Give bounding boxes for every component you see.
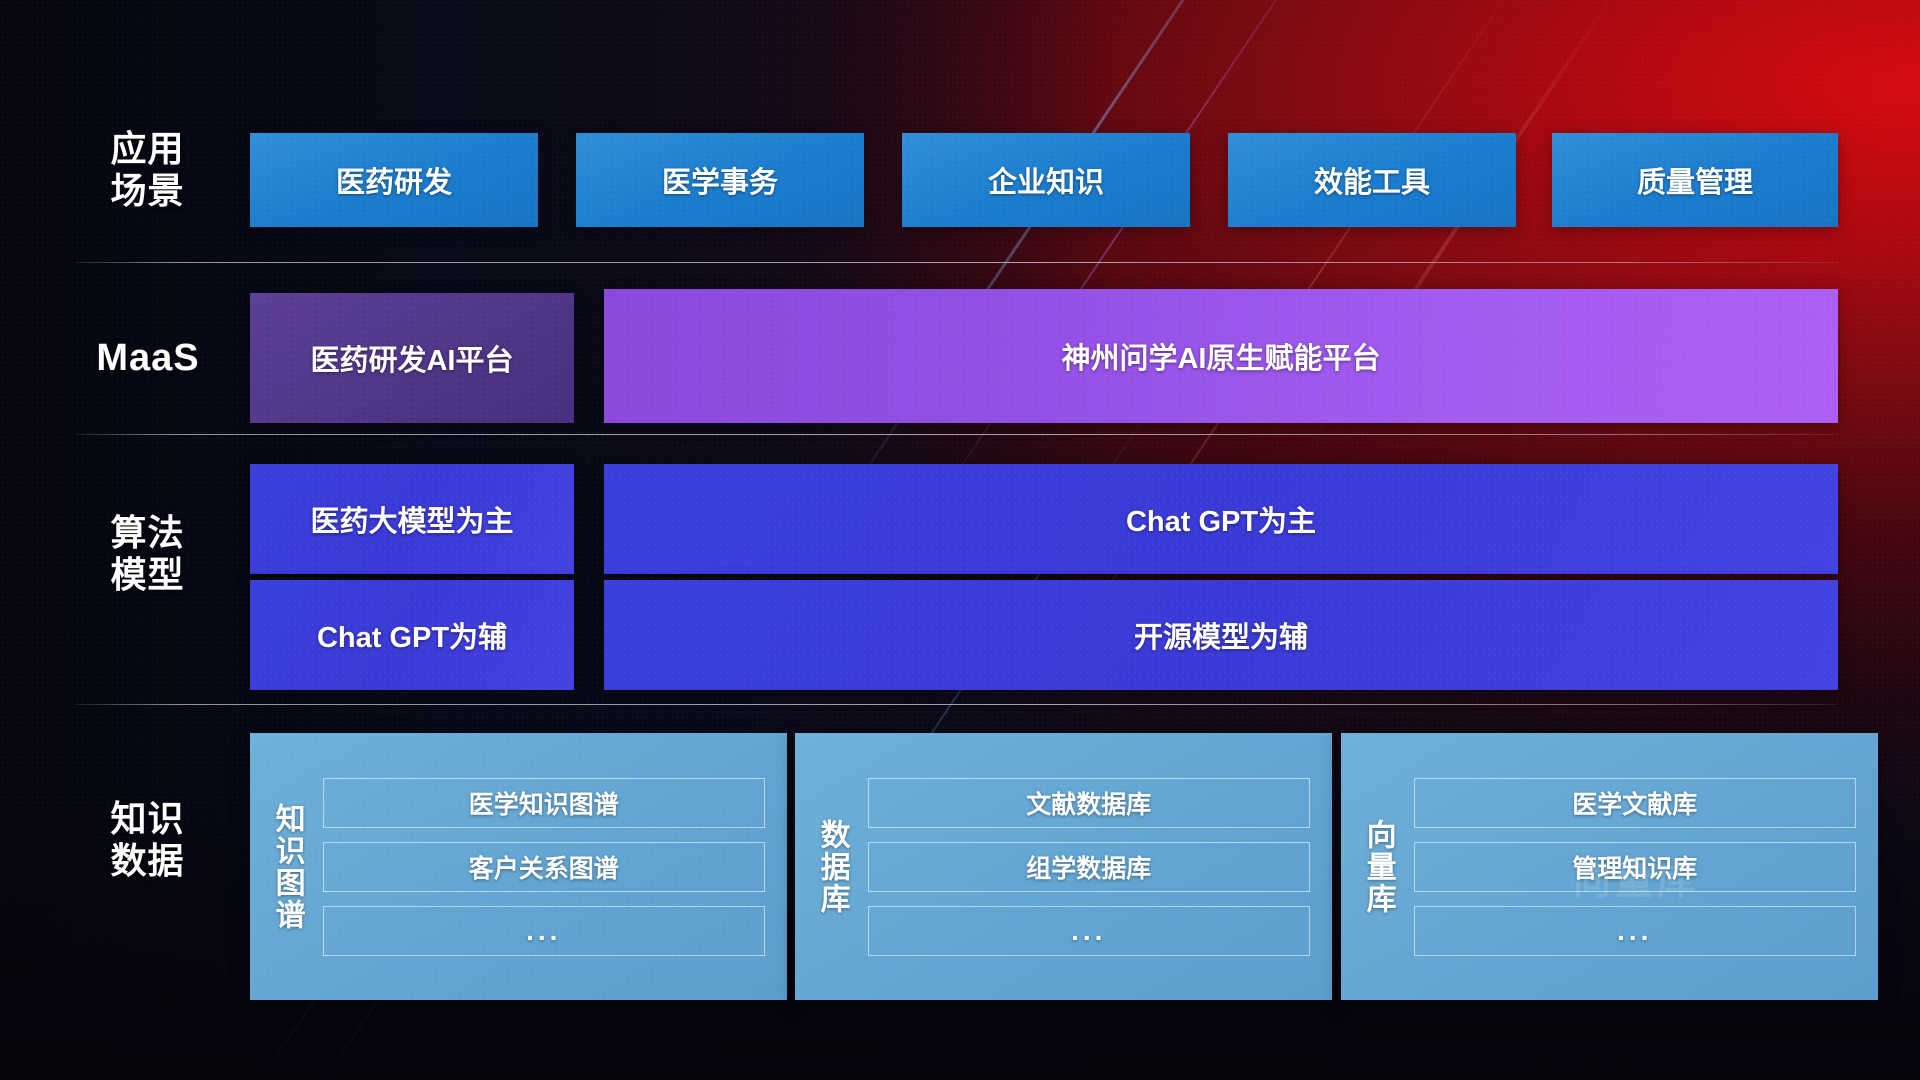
knowledge-item-more[interactable]: ... (868, 906, 1310, 956)
knowledge-item[interactable]: 医学文献库 (1414, 778, 1856, 828)
app-scenario-label: 医药研发 (336, 159, 452, 201)
algorithm-box-chatgpt-secondary[interactable]: Chat GPT为辅 (250, 580, 574, 690)
row-separator-3 (75, 704, 1838, 705)
row-label-knowledge-data: 知识 数据 (75, 798, 220, 883)
row-label-line: MaaS (68, 336, 228, 381)
knowledge-item[interactable]: 客户关系图谱 (323, 842, 765, 892)
knowledge-item[interactable]: 文献数据库 (868, 778, 1310, 828)
app-scenario-label: 效能工具 (1314, 159, 1430, 201)
row-label-line: 应用 (75, 128, 220, 170)
knowledge-panel-title: 数据库 (813, 819, 850, 915)
row-label-maas: MaaS (68, 336, 228, 381)
app-scenario-label: 企业知识 (988, 159, 1104, 201)
algorithm-box-label: 开源模型为辅 (1134, 614, 1308, 656)
app-scenario-box-quality-management[interactable]: 质量管理 (1552, 133, 1838, 227)
knowledge-item-more[interactable]: ... (1414, 906, 1856, 956)
knowledge-item[interactable]: 管理知识库 (1414, 842, 1856, 892)
algorithm-box-label: 医药大模型为主 (310, 498, 513, 540)
knowledge-panel-database[interactable]: 数据库 文献数据库 组学数据库 ... (795, 733, 1332, 1000)
knowledge-panel-title: 知识图谱 (268, 803, 305, 931)
knowledge-panel-vector-store[interactable]: 向量库 向量库 医学文献库 管理知识库 ... (1341, 733, 1878, 1000)
row-label-line: 模型 (75, 554, 220, 596)
row-separator-1 (75, 262, 1838, 263)
app-scenario-label: 医学事务 (662, 159, 778, 201)
diagram-canvas: 应用 场景 医药研发 医学事务 企业知识 效能工具 质量管理 MaaS 医药研发… (0, 0, 1920, 1080)
row-label-line: 知识 (75, 798, 220, 840)
knowledge-item[interactable]: 医学知识图谱 (323, 778, 765, 828)
row-label-line: 算法 (75, 512, 220, 554)
row-label-application-scenarios: 应用 场景 (75, 128, 220, 213)
app-scenario-label: 质量管理 (1637, 159, 1753, 201)
app-scenario-box-medicine-rd[interactable]: 医药研发 (250, 133, 538, 227)
knowledge-item-more[interactable]: ... (323, 906, 765, 956)
knowledge-panel-title: 向量库 (1359, 819, 1396, 915)
knowledge-panel-knowledge-graph[interactable]: 知识图谱 医学知识图谱 客户关系图谱 ... (250, 733, 787, 1000)
algorithm-box-pharma-llm-primary[interactable]: 医药大模型为主 (250, 464, 574, 574)
maas-box-label: 医药研发AI平台 (310, 337, 513, 379)
app-scenario-box-efficiency-tools[interactable]: 效能工具 (1228, 133, 1516, 227)
app-scenario-box-medical-affairs[interactable]: 医学事务 (576, 133, 864, 227)
knowledge-item-list: 文献数据库 组学数据库 ... (868, 778, 1310, 956)
app-scenario-box-enterprise-knowledge[interactable]: 企业知识 (902, 133, 1190, 227)
maas-box-pharma-ai-platform[interactable]: 医药研发AI平台 (250, 293, 574, 423)
row-label-line: 场景 (75, 170, 220, 212)
row-label-line: 数据 (75, 840, 220, 882)
algorithm-box-label: Chat GPT为辅 (317, 614, 507, 656)
knowledge-item-list: 医学文献库 管理知识库 ... (1414, 778, 1856, 956)
algorithm-box-label: Chat GPT为主 (1126, 498, 1316, 540)
maas-box-shenzhou-wenxue-platform[interactable]: 神州问学AI原生赋能平台 (604, 289, 1838, 423)
knowledge-item[interactable]: 组学数据库 (868, 842, 1310, 892)
row-label-algorithm-models: 算法 模型 (75, 512, 220, 597)
row-separator-2 (75, 434, 1838, 435)
knowledge-item-list: 医学知识图谱 客户关系图谱 ... (323, 778, 765, 956)
maas-box-label: 神州问学AI原生赋能平台 (1061, 335, 1380, 377)
algorithm-box-open-source-secondary[interactable]: 开源模型为辅 (604, 580, 1838, 690)
algorithm-box-chatgpt-primary[interactable]: Chat GPT为主 (604, 464, 1838, 574)
